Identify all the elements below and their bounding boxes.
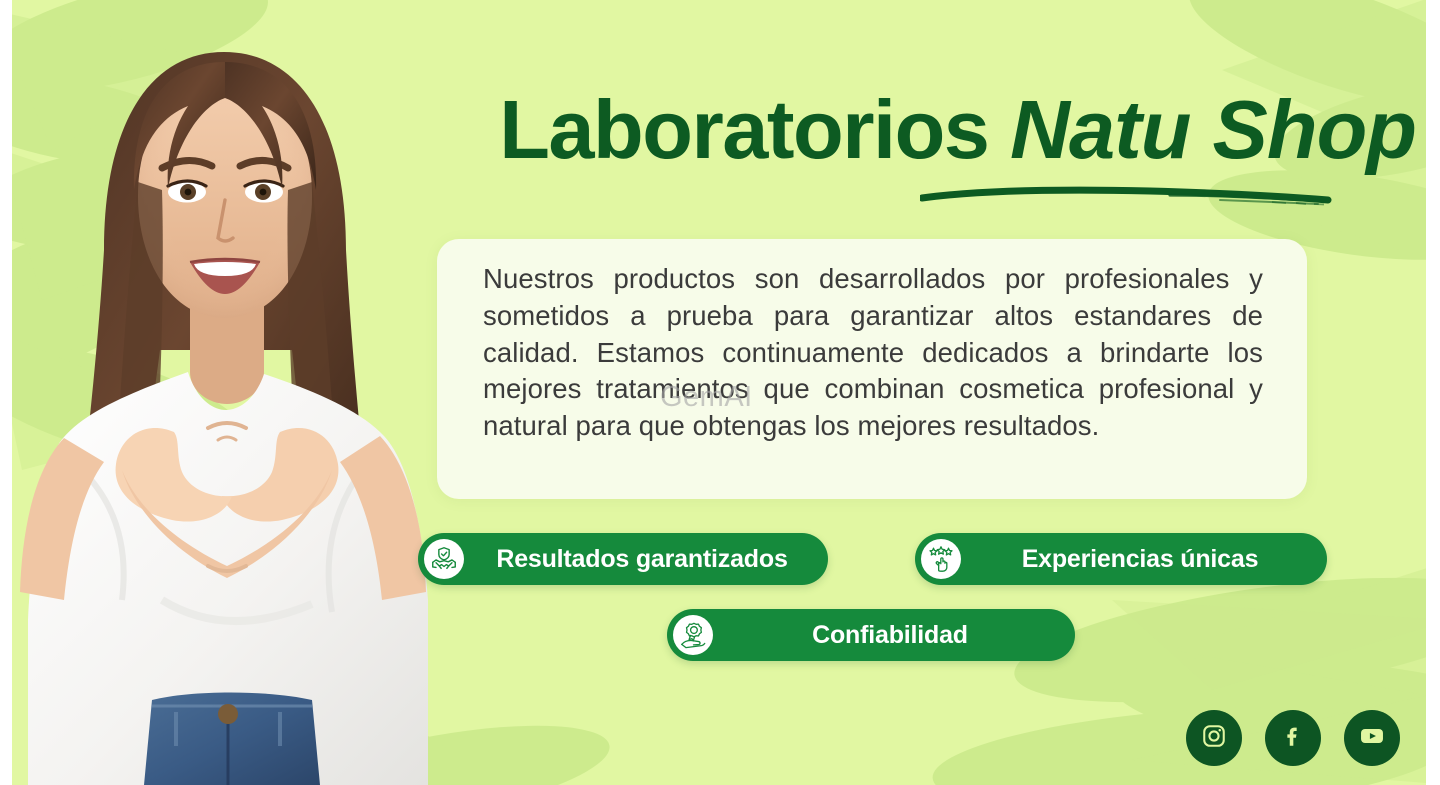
- youtube-icon: [1358, 722, 1386, 755]
- social-link-facebook[interactable]: [1265, 710, 1321, 766]
- feature-pill-label: Confiabilidad: [713, 621, 1075, 650]
- description-card: Nuestros productos son desarrollados por…: [437, 239, 1307, 499]
- feature-pill-resultados-garantizados[interactable]: Resultados garantizados: [418, 533, 828, 585]
- title-part-1: Laboratorios: [499, 83, 1010, 176]
- hand-medal-icon: [673, 615, 713, 655]
- description-text: Nuestros productos son desarrollados por…: [483, 261, 1263, 445]
- stars-hand-icon: [921, 539, 961, 579]
- title-underline-stroke: [920, 186, 1345, 208]
- social-link-youtube[interactable]: [1344, 710, 1400, 766]
- page-title: Laboratorios Natu Shop: [312, 88, 1422, 208]
- instagram-icon: [1201, 723, 1227, 754]
- hero-banner: Laboratorios Natu Shop Nuestros producto…: [12, 0, 1426, 785]
- social-links: [1186, 710, 1400, 766]
- social-link-instagram[interactable]: [1186, 710, 1242, 766]
- watermark-text: GemAI: [660, 381, 753, 414]
- title-part-2: Natu Shop: [1010, 83, 1416, 176]
- feature-pill-experiencias-unicas[interactable]: Experiencias únicas: [915, 533, 1327, 585]
- facebook-icon: [1280, 723, 1306, 754]
- feature-pill-label: Resultados garantizados: [464, 545, 828, 574]
- handshake-shield-icon: [424, 539, 464, 579]
- feature-pill-label: Experiencias únicas: [961, 545, 1327, 574]
- feature-pill-confiabilidad[interactable]: Confiabilidad: [667, 609, 1075, 661]
